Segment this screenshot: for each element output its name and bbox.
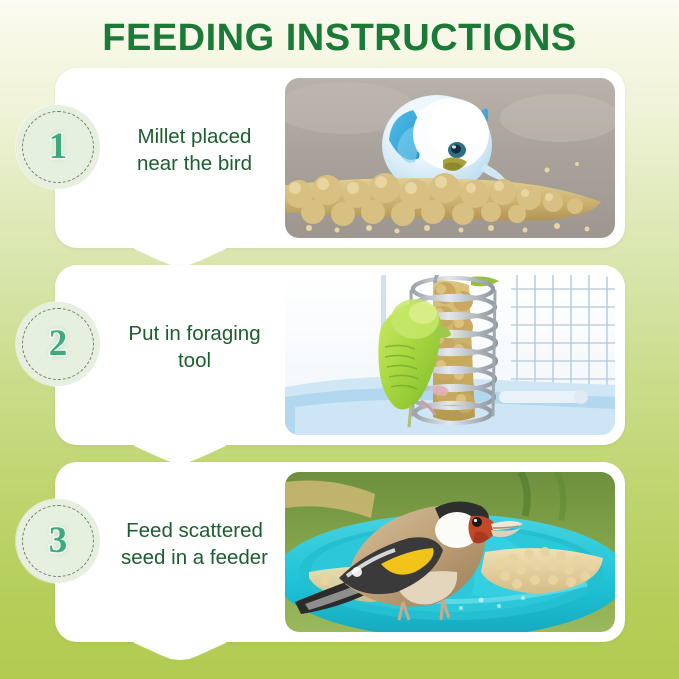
step-text-1-line-2: near the bird — [107, 150, 282, 177]
budgie-millet-illustration — [285, 78, 615, 238]
step-photo-1 — [285, 78, 615, 238]
page-title: FEEDING INSTRUCTIONS — [0, 16, 679, 60]
step-number-2: 2 — [16, 302, 100, 386]
feeding-instructions-poster: FEEDING INSTRUCTIONS — [0, 0, 679, 679]
goldfinch-feeder-illustration — [285, 472, 615, 632]
card-tail-notch-2 — [134, 444, 226, 463]
step-text-3-line-1: Feed scattered — [107, 517, 282, 544]
step-number-3: 3 — [16, 499, 100, 583]
step-badge-2: 2 — [16, 302, 100, 386]
step-number-1: 1 — [16, 105, 100, 189]
step-text-2: Put in foraging tool — [107, 320, 282, 374]
step-badge-1: 1 — [16, 105, 100, 189]
foraging-tool-illustration — [285, 275, 615, 435]
step-photo-2 — [285, 275, 615, 435]
step-photo-3 — [285, 472, 615, 632]
step-text-1-line-1: Millet placed — [107, 123, 282, 150]
step-text-1: Millet placed near the bird — [107, 123, 282, 177]
step-badge-3: 3 — [16, 499, 100, 583]
step-text-2-line-2: tool — [107, 347, 282, 374]
step-text-2-line-1: Put in foraging — [107, 320, 282, 347]
card-tail-notch-3 — [134, 641, 226, 660]
card-tail-notch-1 — [134, 247, 226, 266]
step-text-3: Feed scattered seed in a feeder — [107, 517, 282, 571]
step-text-3-line-2: seed in a feeder — [107, 544, 282, 571]
